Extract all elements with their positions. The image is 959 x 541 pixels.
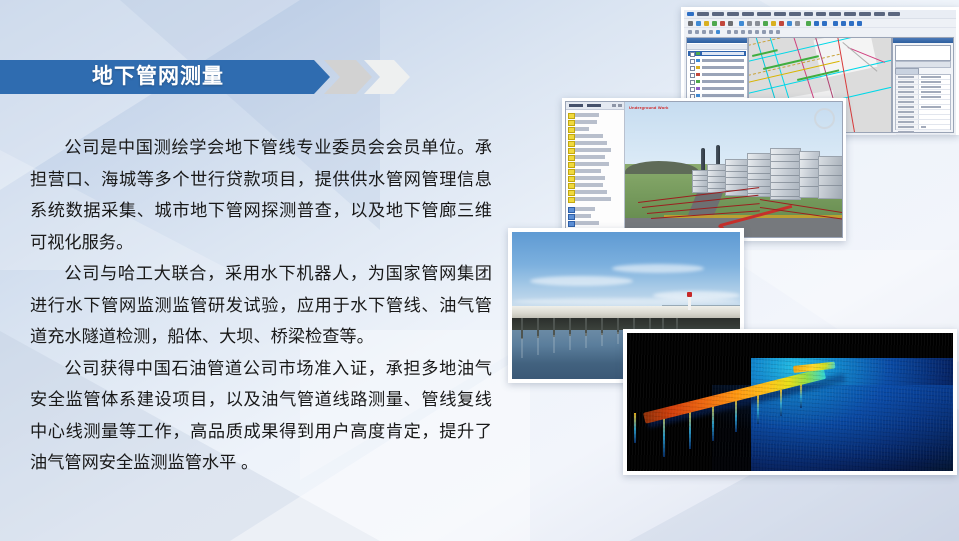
- sonar-noise: [627, 333, 953, 471]
- tree-item[interactable]: [568, 126, 592, 132]
- title-banner: 地下管网测量: [0, 60, 410, 94]
- attribute-search-field[interactable]: [895, 45, 951, 61]
- tree-item[interactable]: [688, 65, 746, 70]
- viewport-overlay-label: Underground Work: [629, 105, 669, 110]
- tree-item[interactable]: [568, 168, 604, 174]
- pointcloud-content: [627, 333, 953, 471]
- water-reflection: [537, 336, 539, 355]
- underground-pipeline-3d-view: Underground Work: [562, 98, 846, 241]
- gis-toolbar-secondary[interactable]: [684, 27, 956, 36]
- tree-item[interactable]: [688, 79, 746, 84]
- viewer-layer-tree[interactable]: [566, 102, 625, 237]
- tree-item[interactable]: [568, 206, 598, 212]
- tree-item[interactable]: [568, 133, 606, 139]
- tree-item[interactable]: [568, 119, 600, 125]
- pier-pile: [537, 318, 539, 338]
- pier-underside: [512, 318, 740, 330]
- tree-item[interactable]: [688, 72, 746, 77]
- compass-icon[interactable]: [814, 108, 835, 129]
- gis-attribute-panel[interactable]: [892, 37, 954, 133]
- building: [818, 156, 842, 199]
- page-title: 地下管网测量: [92, 60, 224, 94]
- tree-item[interactable]: [568, 220, 602, 226]
- water-reflection: [521, 338, 523, 359]
- water-reflection: [601, 333, 603, 346]
- building: [747, 153, 773, 197]
- slide-canvas: 地下管网测量 公司是中国测绘学会地下管线专业委员会会员单位。承担营口、海城等多个…: [0, 0, 959, 541]
- pier-pile: [521, 318, 523, 339]
- tree-item[interactable]: [568, 161, 612, 167]
- attribute-toolbar[interactable]: [895, 61, 951, 68]
- tree-item[interactable]: [568, 196, 614, 202]
- tree-item[interactable]: [568, 189, 610, 195]
- panel-title-bar: [566, 102, 624, 110]
- tree-item[interactable]: [568, 213, 594, 219]
- water-reflection: [569, 334, 571, 350]
- tree-toolbar[interactable]: [687, 44, 747, 50]
- tree-item[interactable]: [568, 154, 608, 160]
- navigation-beacon: [688, 297, 691, 310]
- water-reflection: [617, 332, 619, 344]
- panel-title-bar: [687, 38, 747, 43]
- gis-menu-bar: [684, 10, 956, 18]
- tree-item[interactable]: [688, 58, 746, 63]
- tree-item[interactable]: [568, 147, 614, 153]
- paragraph: 公司是中国测绘学会地下管线专业委员会会员单位。承担营口、海城等多个世行贷款项目，…: [30, 132, 492, 258]
- building: [799, 151, 821, 199]
- body-copy: 公司是中国测绘学会地下管线专业委员会会员单位。承担营口、海城等多个世行贷款项目，…: [30, 132, 492, 479]
- beacon-light: [687, 292, 692, 297]
- banner-chevron-secondary: [324, 60, 372, 94]
- viewer-3d-viewport[interactable]: Underground Work: [625, 102, 842, 237]
- tree-item[interactable]: [568, 182, 606, 188]
- paragraph: 公司与哈工大联合，采用水下机器人，为国家管网集团进行水下管网监测监管研发试验，应…: [30, 258, 492, 353]
- viewer-window: Underground Work: [565, 101, 843, 238]
- paragraph: 公司获得中国石油管道公司市场准入证，承担多地油气安全监管体系建设项目，以及油气管…: [30, 353, 492, 479]
- attribute-grid[interactable]: [895, 74, 951, 130]
- tree-item[interactable]: [688, 86, 746, 91]
- pier-deck: [512, 306, 740, 319]
- tree-item[interactable]: [568, 112, 602, 118]
- tree-item[interactable]: [688, 51, 746, 56]
- panel-title-bar: [893, 38, 953, 43]
- tree-item[interactable]: [568, 175, 608, 181]
- building: [770, 148, 800, 200]
- multibeam-sonar-pointcloud: [623, 329, 957, 475]
- tree-item[interactable]: [568, 140, 610, 146]
- water-reflection: [553, 335, 555, 353]
- water-reflection: [585, 333, 587, 348]
